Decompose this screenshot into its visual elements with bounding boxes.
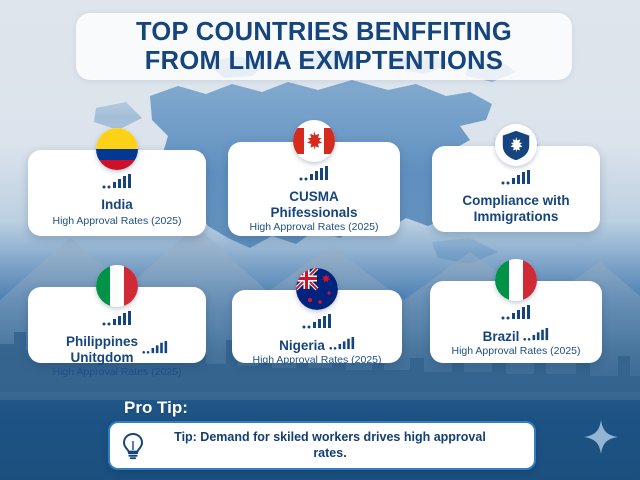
pro-tip-label: Pro Tip: xyxy=(124,398,188,418)
bar-chart-icon xyxy=(302,314,332,334)
country-card-india[interactable]: India High Approval Rates (2025) xyxy=(28,150,206,236)
colombia-flag-icon xyxy=(96,128,138,170)
card-subtitle: High Approval Rates (2025) xyxy=(244,221,385,233)
page-title-line-1: TOP COUNTRIES BENFFITING xyxy=(136,18,512,47)
bar-chart-icon xyxy=(501,170,531,190)
card-subtitle: High Approval Rates (2025) xyxy=(47,366,188,378)
card-title: Philippines Unitgdom xyxy=(66,334,168,366)
bar-chart-icon xyxy=(102,174,132,194)
card-subtitle: High Approval Rates (2025) xyxy=(47,215,188,227)
poster-title-card: TOP COUNTRIES BENFFITING FROM LMIA EXMPT… xyxy=(76,13,572,80)
card-title: CUSMA Phifessionals xyxy=(270,189,357,221)
card-title: Nigeria xyxy=(279,337,355,354)
bar-chart-icon-inline xyxy=(329,337,355,354)
country-card-nigeria[interactable]: Nigeria High Approval Rates (2025) xyxy=(232,290,402,363)
country-card-philippines[interactable]: Philippines Unitgdom High Approval Rates… xyxy=(28,287,206,363)
card-title-text: CUSMA Phifessionals xyxy=(270,189,357,221)
card-title: Brazil xyxy=(483,328,550,345)
pro-tip-text: Tip: Demand for skiled workers drives hi… xyxy=(156,430,534,461)
canada-flag-icon xyxy=(293,120,335,162)
card-subtitle: High Approval Rates (2025) xyxy=(446,345,587,357)
country-card-compliance[interactable]: Compliance with Immigrations xyxy=(432,146,600,232)
lightbulb-icon xyxy=(110,432,156,460)
card-title-text: Nigeria xyxy=(279,338,325,354)
bar-chart-icon xyxy=(102,311,132,331)
card-subtitle: High Approval Rates (2025) xyxy=(247,354,388,366)
card-title-text: India xyxy=(101,197,133,213)
infographic-poster: TOP COUNTRIES BENFFITING FROM LMIA EXMPT… xyxy=(0,0,640,480)
bar-chart-icon xyxy=(299,166,329,186)
bar-chart-icon-inline xyxy=(142,341,168,358)
country-card-cusma-professionals[interactable]: CUSMA Phifessionals High Approval Rates … xyxy=(228,142,400,236)
page-title-line-2: FROM LMIA EXMPTENTIONS xyxy=(145,47,503,76)
shield-maple-leaf-icon xyxy=(495,124,537,166)
card-title: India xyxy=(101,197,133,213)
card-title-text: Compliance with Immigrations xyxy=(462,193,569,225)
card-title-text: Philippines Unitgdom xyxy=(66,334,138,366)
bar-chart-icon xyxy=(501,305,531,325)
italy-flag-icon xyxy=(495,259,537,301)
pro-tip-banner[interactable]: Tip: Demand for skiled workers drives hi… xyxy=(108,421,536,470)
country-card-brazil[interactable]: Brazil High Approval Rates (2025) xyxy=(430,281,602,363)
sparkle-icon xyxy=(584,420,618,454)
italy-flag-icon xyxy=(96,265,138,307)
card-title-text: Brazil xyxy=(483,329,520,345)
australia-flag-icon xyxy=(296,268,338,310)
card-title: Compliance with Immigrations xyxy=(462,193,569,225)
bar-chart-icon-inline xyxy=(523,328,549,345)
